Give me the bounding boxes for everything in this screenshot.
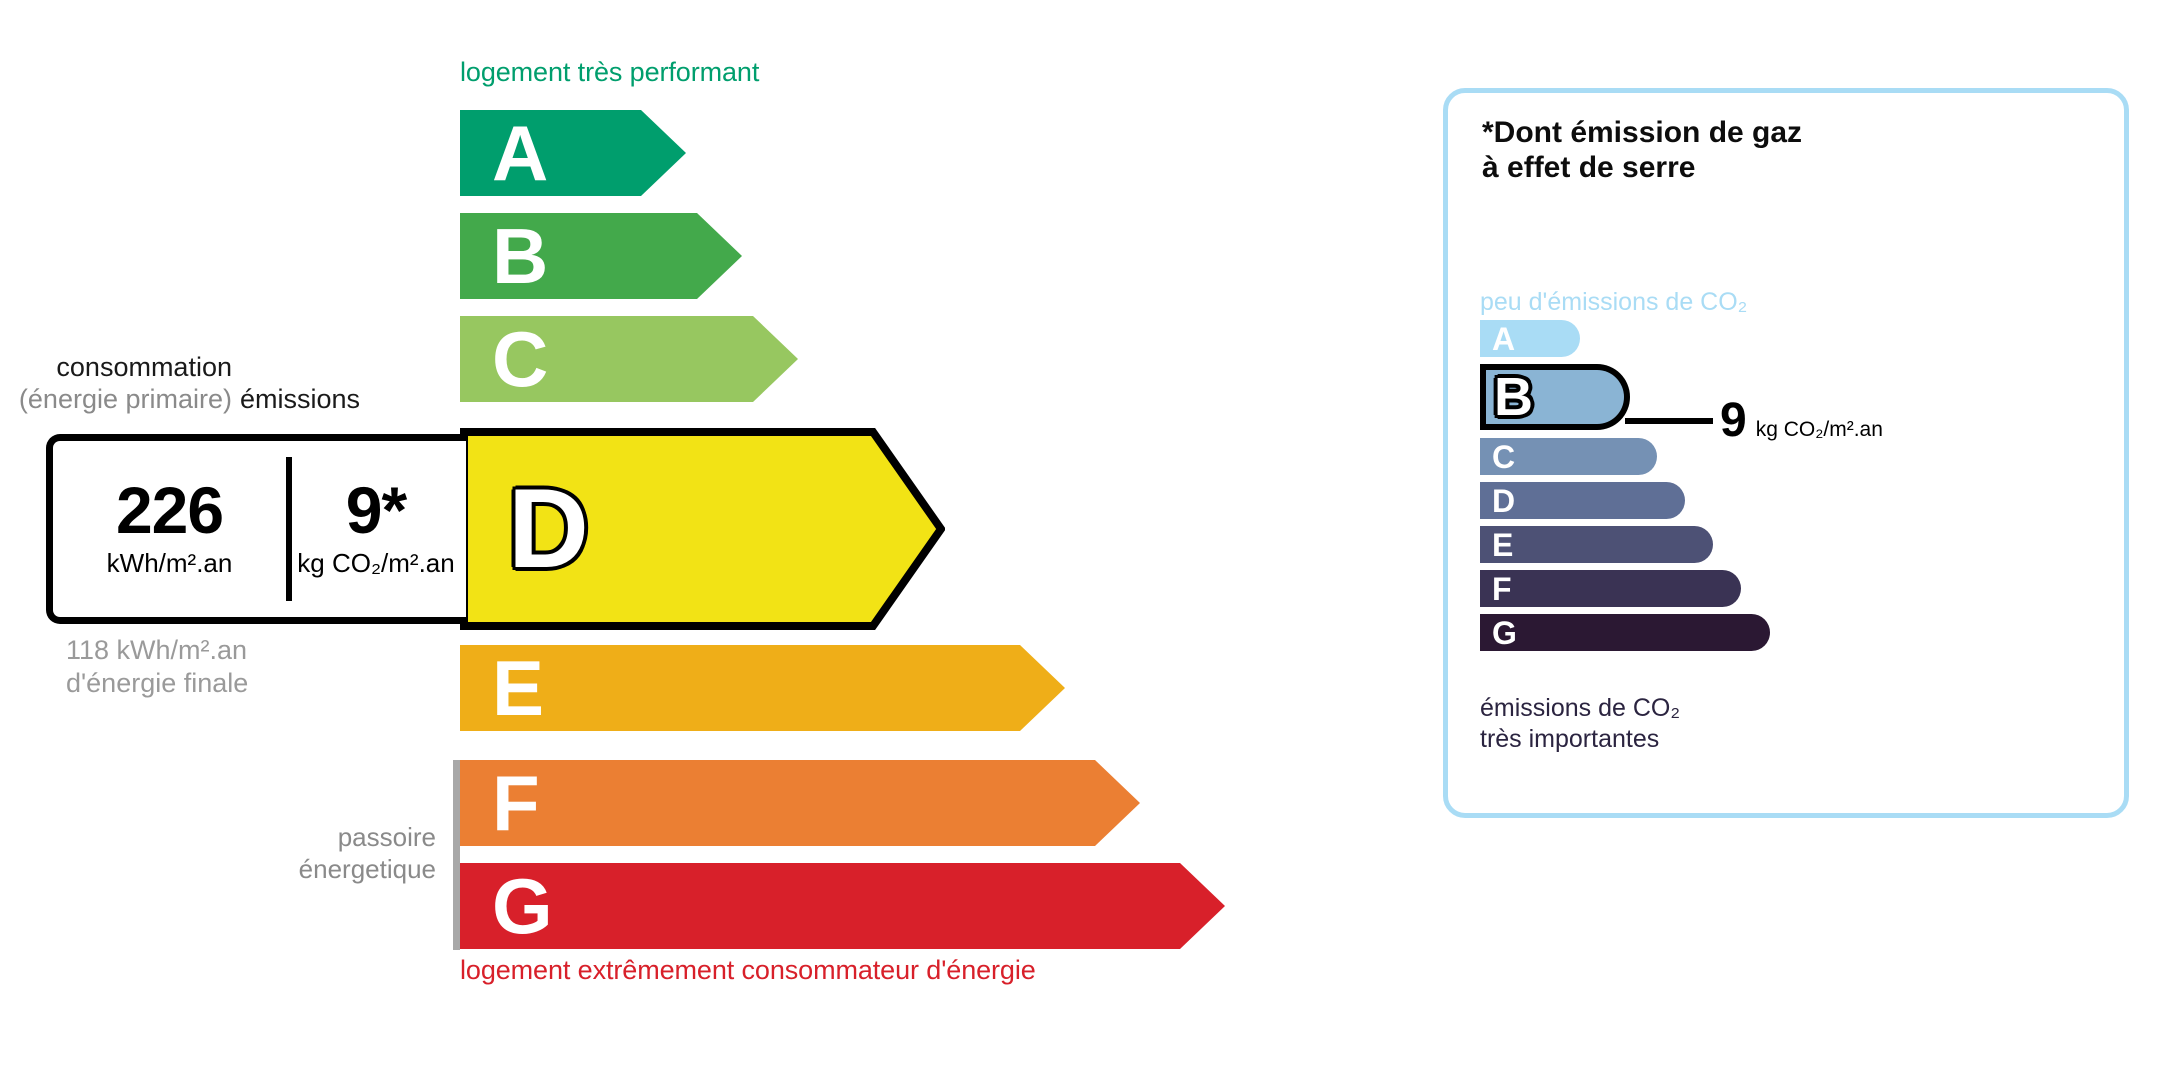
energy-bar-b[interactable]: B [460, 213, 742, 299]
co2-row-f[interactable]: F [1480, 570, 1770, 607]
final-energy-line1: 118 kWh/m².an [66, 634, 248, 667]
emissions-value: 9* [346, 479, 406, 542]
co2-bar-g: G [1480, 614, 1770, 651]
co2-bar-c: C [1480, 438, 1657, 475]
energy-bar-c[interactable]: C [460, 316, 798, 402]
co2-row-d[interactable]: D [1480, 482, 1770, 519]
final-energy-note: 118 kWh/m².an d'énergie finale [66, 634, 248, 700]
energy-arrow-shape-c [460, 316, 798, 402]
co2-value-unit: kg CO₂/m².an [1756, 418, 1883, 442]
co2-panel-title: *Dont émission de gaz à effet de serre [1482, 115, 1802, 186]
emissions-unit: kg CO₂/m².an [297, 548, 454, 579]
co2-row-b-current[interactable]: B 9 kg CO₂/m².an [1480, 364, 1770, 430]
arrow-svg-c [460, 316, 798, 402]
value-box-labels: consommation (énergie primaire) émission… [0, 352, 470, 428]
energy-performance-panel: logement très performant A B [0, 0, 1320, 1079]
passoire-line1: passoire [299, 822, 436, 854]
co2-letter-b: B [1494, 370, 1533, 424]
energy-top-caption: logement très performant [460, 57, 759, 88]
consumption-label: consommation (énergie primaire) [19, 352, 232, 416]
energy-bar-d-current[interactable]: D [460, 428, 945, 630]
co2-row-e[interactable]: E [1480, 526, 1770, 563]
co2-title-line2: à effet de serre [1482, 150, 1802, 185]
arrow-svg-e [460, 645, 1065, 731]
co2-bottom-caption-line2: très importantes [1480, 724, 1680, 755]
energy-bottom-caption: logement extrêmement consommateur d'éner… [460, 955, 1036, 986]
energy-bar-a[interactable]: A [460, 110, 686, 196]
co2-bar-f: F [1480, 570, 1741, 607]
passoire-label: passoire énergetique [299, 822, 436, 885]
co2-letter-f: F [1492, 573, 1512, 605]
co2-row-c[interactable]: C [1480, 438, 1770, 475]
consumption-label-line1: consommation [19, 352, 232, 384]
energy-bar-e[interactable]: E [460, 645, 1065, 731]
energy-bar-g[interactable]: G [460, 863, 1225, 949]
arrow-svg-a [460, 110, 686, 196]
energy-arrow-shape-g [460, 863, 1225, 949]
co2-bottom-caption: émissions de CO₂ très importantes [1480, 693, 1680, 754]
co2-letter-g: G [1492, 617, 1517, 649]
energy-arrow-shape-b [460, 213, 742, 299]
passoire-bracket [453, 760, 460, 950]
emissions-label: émissions [240, 384, 360, 415]
co2-bottom-caption-line1: émissions de CO₂ [1480, 693, 1680, 724]
consumption-label-line2: (énergie primaire) [19, 384, 232, 416]
value-box: 226 kWh/m².an 9* kg CO₂/m².an [46, 434, 466, 624]
co2-letter-a: A [1492, 323, 1515, 355]
co2-bar-e: E [1480, 526, 1713, 563]
value-box-divider [286, 457, 292, 601]
co2-top-caption: peu d'émissions de CO₂ [1480, 288, 1747, 317]
co2-letter-c: C [1492, 441, 1515, 473]
arrow-svg-b [460, 213, 742, 299]
energy-arrow-shape-f [460, 760, 1140, 846]
consumption-unit: kWh/m².an [107, 548, 233, 579]
energy-arrow-shape-a [460, 110, 686, 196]
dpe-diagram: logement très performant A B [0, 0, 2170, 1079]
arrow-svg-d [460, 428, 945, 630]
co2-bar-a: A [1480, 320, 1580, 357]
co2-letter-d: D [1492, 485, 1515, 517]
arrow-svg-f [460, 760, 1140, 846]
energy-arrow-shape-e [460, 645, 1065, 731]
co2-leader-line [1625, 418, 1713, 424]
co2-row-g[interactable]: G [1480, 614, 1770, 651]
consumption-value: 226 [116, 479, 223, 542]
emissions-value-cell: 9* kg CO₂/m².an [286, 441, 466, 617]
co2-bar-b: B [1480, 364, 1630, 430]
passoire-line2: énergetique [299, 854, 436, 886]
arrow-svg-g [460, 863, 1225, 949]
consumption-value-cell: 226 kWh/m².an [53, 441, 286, 617]
co2-bar-list: A B 9 kg CO₂/m².an C D [1480, 320, 1770, 658]
final-energy-line2: d'énergie finale [66, 667, 248, 700]
energy-bar-f[interactable]: F [460, 760, 1140, 846]
energy-arrow-shape-d [460, 428, 945, 630]
co2-letter-e: E [1492, 529, 1513, 561]
co2-bar-d: D [1480, 482, 1685, 519]
co2-emissions-panel: *Dont émission de gaz à effet de serre p… [1443, 88, 2129, 818]
co2-title-line1: *Dont émission de gaz [1482, 115, 1802, 150]
co2-row-a[interactable]: A [1480, 320, 1770, 357]
